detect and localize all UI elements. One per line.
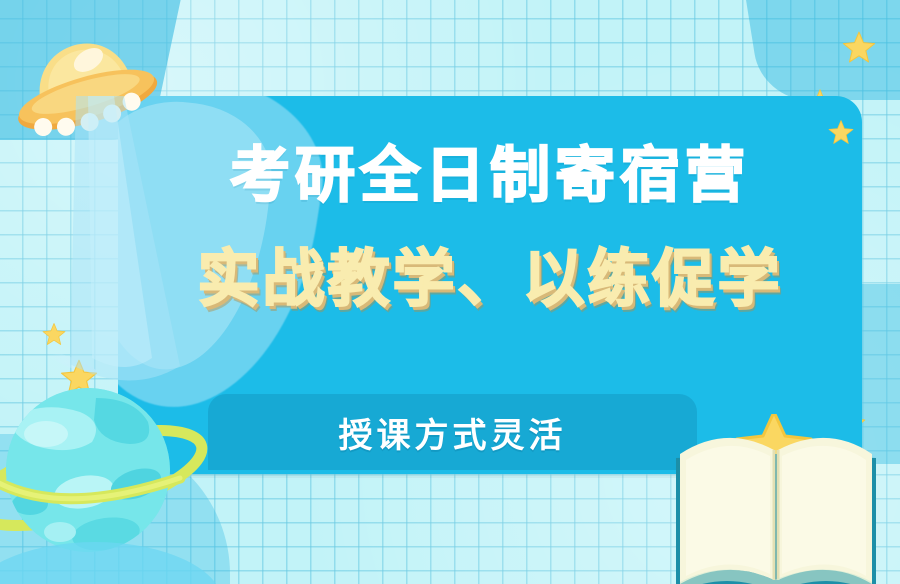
promo-banner: 考研全日制寄宿营 实战教学、以练促学 授课方式灵活 [0,0,900,584]
subtitle-text: 授课方式灵活 [339,408,567,457]
decor-hill [0,514,220,584]
light-beam-icon [30,96,230,396]
subtitle-bar: 授课方式灵活 [208,394,697,470]
star-icon [828,119,854,145]
open-book-icon [646,414,900,584]
star-icon [842,30,876,64]
